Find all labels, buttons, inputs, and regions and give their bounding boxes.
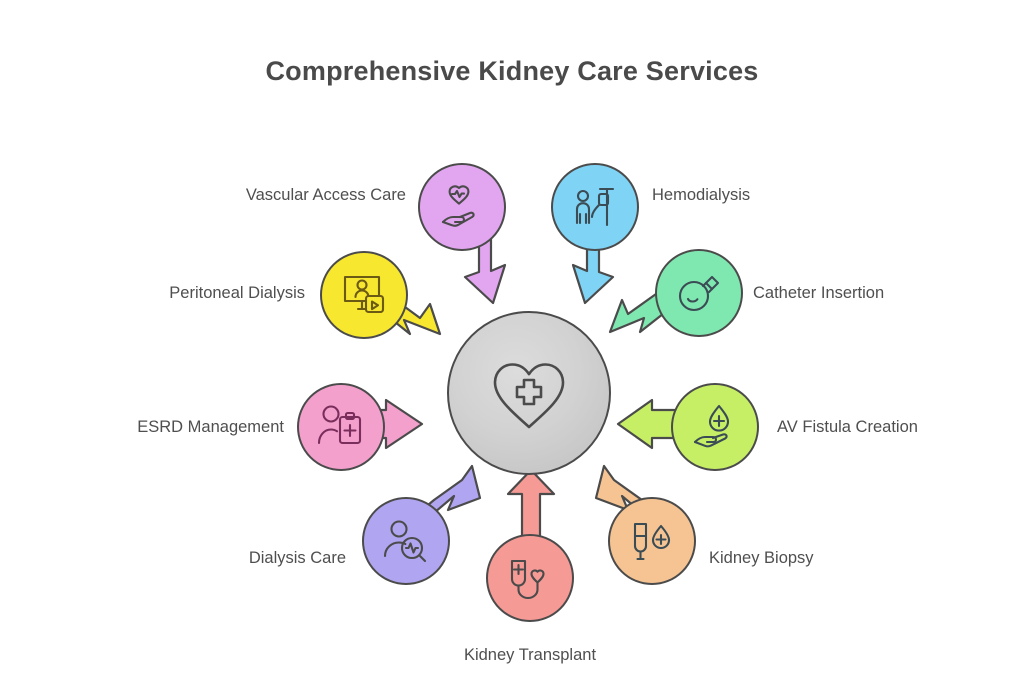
hand-holding-heartbeat-icon: [436, 181, 488, 233]
patient-iv-drip-icon: [569, 181, 621, 233]
page-title: Comprehensive Kidney Care Services: [0, 56, 1024, 87]
node-esrd-management[interactable]: [297, 383, 385, 471]
label-av-fistula-creation: AV Fistula Creation: [777, 418, 918, 437]
node-vascular-access-care[interactable]: [418, 163, 506, 251]
node-dialysis-care[interactable]: [362, 497, 450, 585]
heart-with-cross-icon: [483, 347, 575, 439]
node-hemodialysis[interactable]: [551, 163, 639, 251]
video-presentation-play-icon: [337, 268, 391, 322]
diagram-canvas: Comprehensive Kidney Care Services: [0, 0, 1024, 683]
iv-bag-blood-drop-icon: [625, 514, 679, 568]
stethoscope-medical-kit-icon: [503, 551, 557, 605]
label-catheter-insertion: Catheter Insertion: [753, 284, 884, 303]
node-peritoneal-dialysis[interactable]: [320, 251, 408, 339]
node-av-fistula-creation[interactable]: [671, 383, 759, 471]
node-catheter-insertion[interactable]: [655, 249, 743, 337]
label-vascular-access-care: Vascular Access Care: [28, 186, 406, 205]
label-hemodialysis: Hemodialysis: [652, 186, 750, 205]
hand-holding-blood-drop-icon: [688, 400, 742, 454]
node-kidney-transplant[interactable]: [486, 534, 574, 622]
node-kidney-biopsy[interactable]: [608, 497, 696, 585]
label-kidney-transplant: Kidney Transplant: [330, 646, 730, 665]
patient-search-heartbeat-icon: [379, 514, 433, 568]
patient-clipboard-icon: [314, 400, 368, 454]
label-dialysis-care: Dialysis Care: [0, 549, 346, 568]
label-peritoneal-dialysis: Peritoneal Dialysis: [0, 284, 305, 303]
label-kidney-biopsy: Kidney Biopsy: [709, 549, 814, 568]
label-esrd-management: ESRD Management: [0, 418, 284, 437]
hub-node[interactable]: [447, 311, 611, 475]
catheter-bulb-icon: [672, 266, 726, 320]
